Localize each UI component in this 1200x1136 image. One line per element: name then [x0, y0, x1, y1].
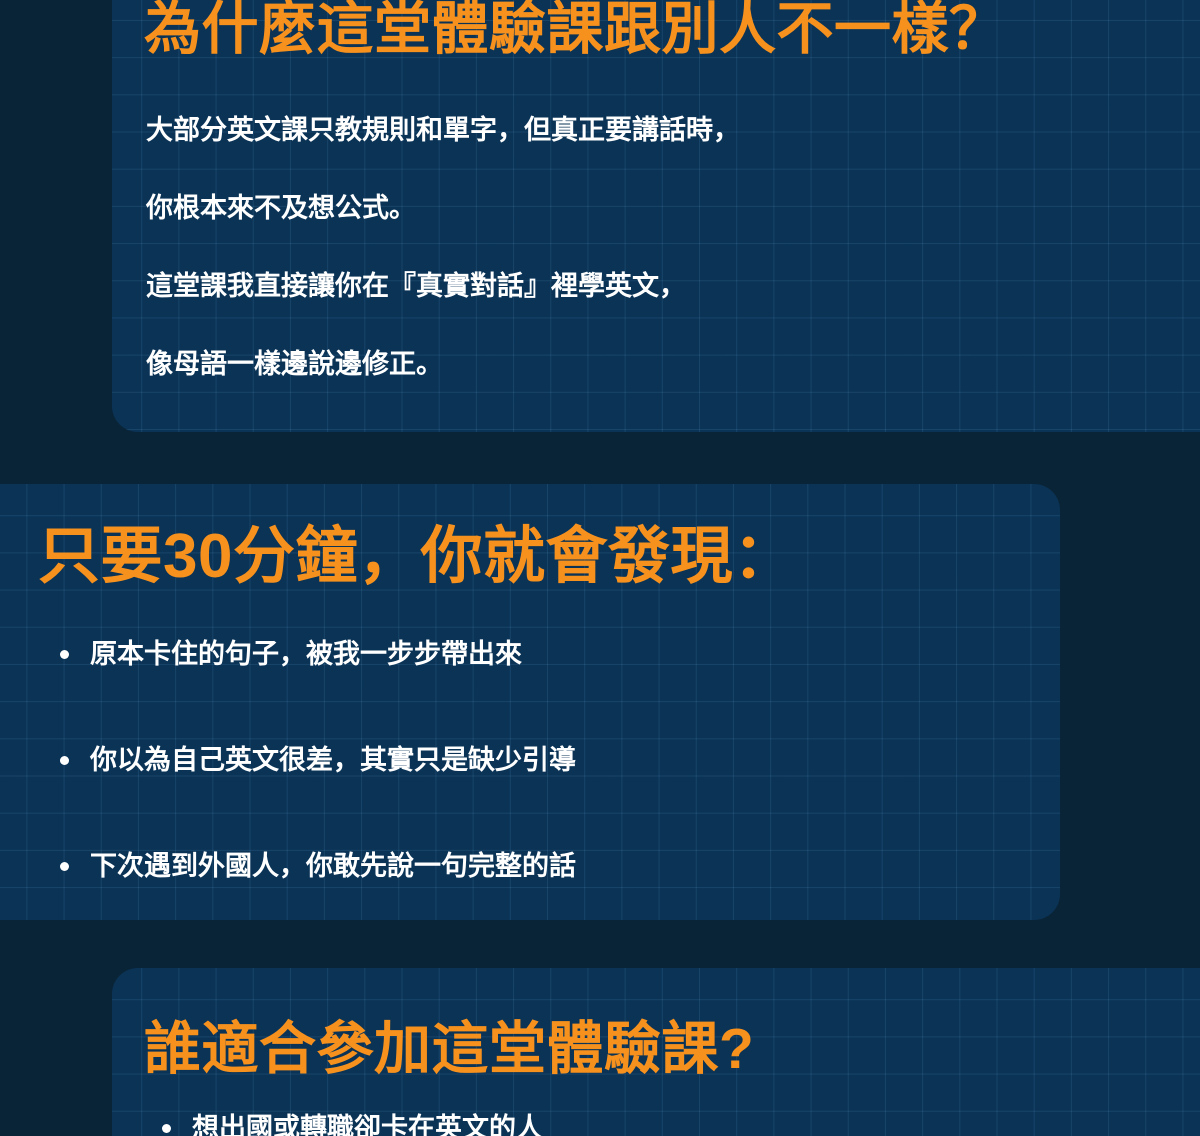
why-body-line: 你根本來不及想公式。: [146, 192, 740, 224]
landing-page: 為什麼這堂體驗課跟別人不一樣？ 大部分英文課只教規則和單字，但真正要講話時， 你…: [0, 0, 1200, 1136]
list-item-label: 想出國或轉職卻卡在英文的人: [192, 1113, 543, 1136]
list-item: 你以為自己英文很差，其實只是缺少引導: [58, 744, 576, 776]
list-item-label: 下次遇到外國人，你敢先說一句完整的話: [90, 851, 576, 881]
who-audience-list: 想出國或轉職卻卡在英文的人: [160, 1112, 543, 1136]
discover-section-title: 只要30分鐘，你就會發現：: [38, 522, 795, 592]
why-section-body: 大部分英文課只教規則和單字，但真正要講話時， 你根本來不及想公式。 這堂課我直接…: [146, 114, 740, 380]
why-section-title: 為什麼這堂體驗課跟別人不一樣？: [144, 0, 1007, 60]
bullet-dot-icon: [60, 650, 69, 659]
bullet-dot-icon: [162, 1124, 171, 1133]
discover-benefit-list: 原本卡住的句子，被我一步步帶出來 你以為自己英文很差，其實只是缺少引導 下次遇到…: [58, 638, 576, 882]
who-section-title: 誰適合參加這堂體驗課?: [144, 1018, 754, 1080]
why-body-line: 大部分英文課只教規則和單字，但真正要講話時，: [146, 114, 740, 146]
bullet-dot-icon: [60, 756, 69, 765]
list-item: 原本卡住的句子，被我一步步帶出來: [58, 638, 576, 670]
list-item: 下次遇到外國人，你敢先說一句完整的話: [58, 850, 576, 882]
list-item-label: 你以為自己英文很差，其實只是缺少引導: [90, 745, 576, 775]
why-body-line: 像母語一樣邊說邊修正。: [146, 348, 740, 380]
bullet-dot-icon: [60, 862, 69, 871]
list-item-label: 原本卡住的句子，被我一步步帶出來: [90, 639, 522, 669]
why-body-line: 這堂課我直接讓你在『真實對話』裡學英文，: [146, 270, 740, 302]
list-item: 想出國或轉職卻卡在英文的人: [160, 1112, 543, 1136]
